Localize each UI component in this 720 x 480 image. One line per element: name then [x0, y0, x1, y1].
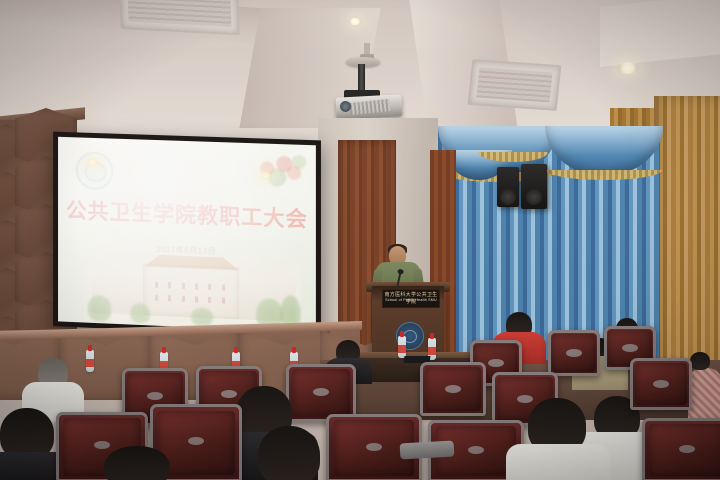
ceiling-ac-vent-icon: [468, 59, 562, 111]
water-bottle: [86, 350, 94, 372]
auditorium-seat: [630, 358, 692, 410]
podium-sign-english: School of Public Health SMU: [383, 298, 439, 302]
water-bottle: [398, 336, 406, 358]
auditorium-seat: [642, 418, 720, 480]
ceiling-beam: [600, 0, 720, 67]
ceiling-downlight: [84, 158, 101, 167]
audience-torso: [506, 444, 610, 480]
wall-speaker-icon: [497, 167, 519, 207]
wall-speaker-icon: [521, 164, 547, 209]
seat-armrest: [400, 441, 455, 460]
fire-sprinkler-icon: [364, 43, 370, 57]
auditorium-seat: [548, 330, 600, 376]
ceiling-downlight: [258, 172, 273, 180]
auditorium-photo: 公共卫生学院教职工大会 2017年6月13日: [0, 0, 720, 480]
auditorium-seat: [420, 362, 486, 416]
ceiling-downlight: [348, 18, 362, 25]
audience-head: [690, 352, 710, 370]
wood-paneling: [654, 96, 720, 386]
audience-torso: [688, 368, 720, 420]
audience-head: [258, 426, 320, 480]
ceiling-downlight: [617, 62, 639, 74]
podium-sign: 南方医科大学公共卫生学院 School of Public Health SMU: [382, 289, 440, 308]
audience-head: [104, 446, 170, 480]
